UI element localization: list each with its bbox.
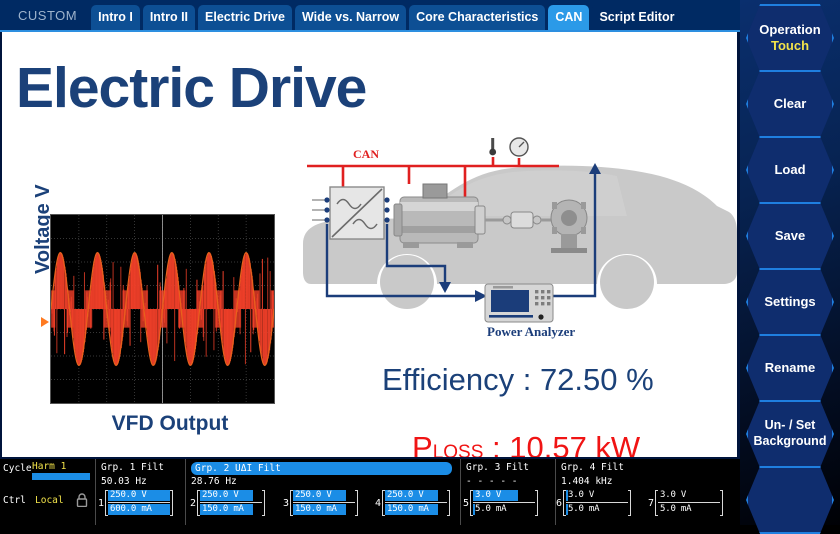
tab-intro-i[interactable]: Intro I [91,5,140,30]
efficiency-value: 72.50 % [540,362,654,397]
channel-range-bars: 250.0 V150.0 mA [200,490,262,516]
status-cycle-block: Cycle Harm 1 Ctrl Local [0,459,95,525]
tab-electric-drive[interactable]: Electric Drive [198,5,292,30]
content-panel: Electric Drive [2,32,737,457]
softkey-label: Rename [765,360,816,376]
waveform-canvas[interactable] [50,214,275,404]
channel-number: 5 [463,498,469,509]
group-frequency-value: 28.76 Hz [191,476,237,487]
power-analyzer-icon [485,284,553,322]
softkey-operation[interactable]: OperationTouch [746,4,834,72]
current-range-label: 5.0 mA [475,504,506,514]
channel-baseline [293,502,355,503]
inverter-output-terminals [384,197,389,222]
power-analyzer-label: Power Analyzer [487,324,575,339]
inverter-input-terminals [312,197,330,222]
channel-7[interactable]: 73.0 V5.0 mA [648,490,723,516]
tab-wide-vs-narrow[interactable]: Wide vs. Narrow [295,5,406,30]
softkey-clear[interactable]: Clear [746,70,834,138]
channel-baseline [385,502,447,503]
channel-number: 7 [648,498,654,509]
channel-bracket-right [170,490,173,516]
channel-bracket-right [535,490,538,516]
sensor-icon [489,138,496,155]
current-range-label: 5.0 mA [568,504,599,514]
channel-baseline [108,502,170,503]
voltage-range-label: 250.0 V [387,490,424,500]
channel-6[interactable]: 63.0 V5.0 mA [556,490,631,516]
channel-baseline [658,502,720,503]
inverter-icon [330,187,384,239]
page-title: Electric Drive [16,60,366,117]
waveform-display: Voltage V VFD Output [50,214,275,439]
voltage-range-label: 250.0 V [295,490,332,500]
channel-number: 6 [556,498,562,509]
channel-3[interactable]: 3250.0 V150.0 mA [283,490,358,516]
ctrl-label: Ctrl [3,495,26,506]
current-range-label: 600.0 mA [110,504,152,514]
channel-1[interactable]: 1250.0 V600.0 mA [98,490,173,516]
power-loss-readout: PLOSS : 10.57 kW [412,430,640,457]
application-window: CUSTOM Intro IIntro IIElectric DriveWide… [0,0,840,525]
softkey-settings[interactable]: Settings [746,268,834,336]
channel-range-bars: 3.0 V5.0 mA [566,490,628,516]
channel-range-bars: 3.0 V5.0 mA [658,490,720,516]
softkey-label: Un- / Set [765,418,816,434]
waveform-caption: VFD Output [70,412,270,436]
can-label: CAN [353,147,379,161]
voltage-range-label: 250.0 V [202,490,239,500]
softkey-sublabel-2: Background [754,434,827,450]
softkey-load[interactable]: Load [746,136,834,204]
current-range-label: 150.0 mA [295,504,337,514]
cycle-progress-bar [32,473,90,480]
channel-bracket-right [628,490,631,516]
ploss-value: 10.57 kW [509,430,640,457]
ctrl-value[interactable]: Local [35,495,64,506]
channel-5[interactable]: 53.0 V5.0 mA [463,490,538,516]
channel-4[interactable]: 4250.0 V150.0 mA [375,490,450,516]
channel-baseline [200,502,262,503]
softkey-sublabel: Touch [771,38,809,54]
channel-number: 1 [98,498,104,509]
group-title[interactable]: Grp. 3 Filt [466,462,529,473]
group-frequency-value: 1.404 kHz [561,476,612,487]
tab-script-editor[interactable]: Script Editor [592,5,681,30]
softkey-label: Load [774,162,805,178]
softkey-rename[interactable]: Rename [746,334,834,402]
channel-range-bars: 250.0 V150.0 mA [293,490,355,516]
channel-bracket-right [355,490,358,516]
softkey-label: Settings [764,294,815,310]
softkey-save[interactable]: Save [746,202,834,270]
tab-bar: CUSTOM Intro IIntro IIElectric DriveWide… [0,0,740,30]
group-title-text: Grp. 2 UΔI Filt [191,462,452,475]
ploss-separator: : [483,430,509,457]
voltage-range-label: 3.0 V [568,490,594,500]
tab-core-characteristics[interactable]: Core Characteristics [409,5,545,30]
group-frequency-value: - - - - - [466,476,517,487]
soft-key-sidebar: OperationTouchClearLoadSaveSettingsRenam… [740,0,840,525]
efficiency-readout: Efficiency : 72.50 % [382,362,654,398]
status-bar: Cycle Harm 1 Ctrl Local Grp. 1 Filt50.03… [0,459,740,525]
gauge-icon [510,138,528,156]
group-title[interactable]: Grp. 4 Filt [561,462,624,473]
efficiency-label: Efficiency : [382,362,540,397]
softkey-label: Save [775,228,805,244]
softkey-un-set[interactable]: Un- / SetBackground [746,400,834,468]
channel-number: 2 [190,498,196,509]
current-range-label: 150.0 mA [387,504,429,514]
tab-can[interactable]: CAN [548,5,589,30]
channel-baseline [566,502,628,503]
vehicle-schematic: CAN [297,132,737,347]
channel-number: 3 [283,498,289,509]
channel-bracket-right [262,490,265,516]
softkey-label: Operation [759,22,820,38]
group-title[interactable]: Grp. 1 Filt [101,462,164,473]
ploss-subscript: LOSS [433,442,484,457]
current-range-label: 150.0 mA [202,504,244,514]
channel-2[interactable]: 2250.0 V150.0 mA [190,490,265,516]
channel-bracket-right [720,490,723,516]
softkey-label: Clear [774,96,807,112]
channel-bracket-right [447,490,450,516]
channel-baseline [473,502,535,503]
lock-icon[interactable] [76,493,88,510]
tab-intro-ii[interactable]: Intro II [143,5,195,30]
cycle-label: Cycle [3,463,32,474]
channel-number: 4 [375,498,381,509]
voltage-range-label: 3.0 V [475,490,501,500]
channel-range-bars: 250.0 V600.0 mA [108,490,170,516]
group-title[interactable]: Grp. 2 UΔI Filt [191,462,452,475]
ploss-prefix: P [412,430,433,457]
group-frequency-value: 50.03 Hz [101,476,147,487]
channel-range-bars: 250.0 V150.0 mA [385,490,447,516]
softkey-empty[interactable] [746,466,834,534]
voltage-range-label: 250.0 V [110,490,147,500]
voltage-range-label: 3.0 V [660,490,686,500]
zero-level-marker [41,317,49,327]
current-range-label: 5.0 mA [660,504,691,514]
cycle-value[interactable]: Harm 1 [32,461,66,472]
custom-label: CUSTOM [0,8,91,30]
channel-range-bars: 3.0 V5.0 mA [473,490,535,516]
